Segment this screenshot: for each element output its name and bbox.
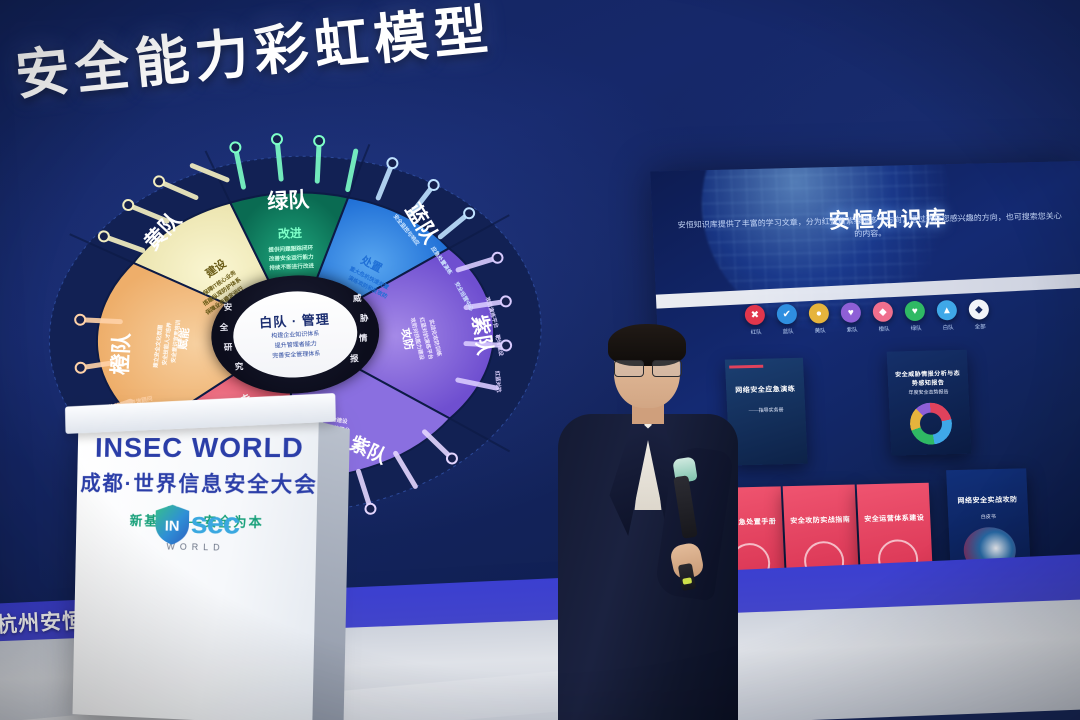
team-icon-label: 黄队 [809,326,830,335]
team-icon-purple[interactable]: ♥ 紫队 [840,302,862,333]
team-name-green: 绿队 [267,188,311,214]
hub-right-label-3: 情 [359,332,368,344]
logo-world-text: WORLD [76,540,320,554]
book-title: 安全攻防实战指南 [790,515,850,526]
book-cover: 安全威胁情报分析与态势感知报告 年度安全态势报告 [887,350,972,456]
book-subtitle: 年度安全态势报告 [894,388,962,397]
team-icon-green[interactable]: ♥ 绿队 [904,301,926,332]
hub-left-label-2: 全 [219,321,228,333]
shield-icon: IN [153,504,191,546]
team-icon-label: 橙队 [873,325,894,334]
hub-line-1: 提升管理者能力 [275,340,317,350]
hub-left-label-4: 究 [235,360,244,372]
orange-team-icon: ◆ [872,302,893,322]
team-icon-all[interactable]: ◆ 全部 [968,299,990,330]
team-icon-yellow[interactable]: ● 黄队 [808,303,830,334]
speaker-person [552,326,742,720]
wheel-hub-inner: 白队 · 管理 构建企业知识体系 提升管理者能力 完善安全管理体系 [231,288,359,380]
hub-left-label-1: 安 [223,301,232,313]
hub-right-label-1: 威 [353,292,362,304]
hub-right-label-2: 胁 [360,312,369,324]
speaker-podium: IN sec WORLD INSEC WORLD 成都·世界信息安全大会 新基建… [72,415,323,720]
book-title: 网络安全应急演练 [732,384,798,396]
team-category-icon-row: ✖ 红队 ✔ 蓝队 ● 黄队 ♥ 紫队 ◆ 橙队 ♥ 绿队 [744,297,1075,336]
speaker-glasses-icon [614,360,682,375]
green-team-icon: ♥ [904,301,925,321]
team-icon-label: 绿队 [905,324,926,333]
hub-title: 白队 · 管理 [259,308,330,331]
team-name-orange: 橙队 [108,331,134,375]
podium-side-panel [312,421,350,720]
logo-sec-text: sec [190,505,239,541]
yellow-team-icon: ● [808,303,829,323]
role-green: 改进 [278,225,303,241]
team-icon-white[interactable]: ▲ 白队 [936,300,958,331]
team-icon-label: 紫队 [841,325,862,334]
team-icon-orange[interactable]: ◆ 橙队 [872,302,894,333]
logo-in-text: IN [164,518,179,534]
conference-title-en: INSEC WORLD [78,432,323,465]
team-icon-label: 红队 [745,328,766,337]
hub-right-label-4: 报 [350,352,359,364]
team-icon-label: 全部 [969,322,990,331]
book-subtitle: ——指导实务册 [733,406,799,415]
hub-left-label-3: 研 [224,341,233,353]
team-icon-red[interactable]: ✖ 红队 [744,305,766,336]
book-subtitle: 白皮书 [954,512,1022,521]
red-team-icon: ✖ [744,305,765,325]
hub-line-0: 构建企业知识体系 [271,330,319,341]
team-icon-blue[interactable]: ✔ 蓝队 [776,304,798,335]
team-icon-label: 蓝队 [777,327,798,336]
hub-line-2: 完善安全管理体系 [272,350,320,361]
all-categories-icon: ◆ [968,299,989,319]
conference-title-cn: 成都·世界信息安全大会 [77,468,322,500]
insec-logo: IN sec WORLD [76,503,321,554]
book-title: 网络安全实战攻防 [953,494,1021,506]
conference-stage-photo: 安全能力彩虹模型 [0,0,1080,720]
white-team-icon: ▲ [936,300,957,320]
purple-team-icon: ♥ [840,302,861,322]
team-icon-label: 白队 [937,323,958,332]
book-title: 安全运营体系建设 [864,513,924,524]
book-title: 安全威胁情报分析与态势感知报告 [893,368,962,388]
blue-team-icon: ✔ [776,304,797,324]
